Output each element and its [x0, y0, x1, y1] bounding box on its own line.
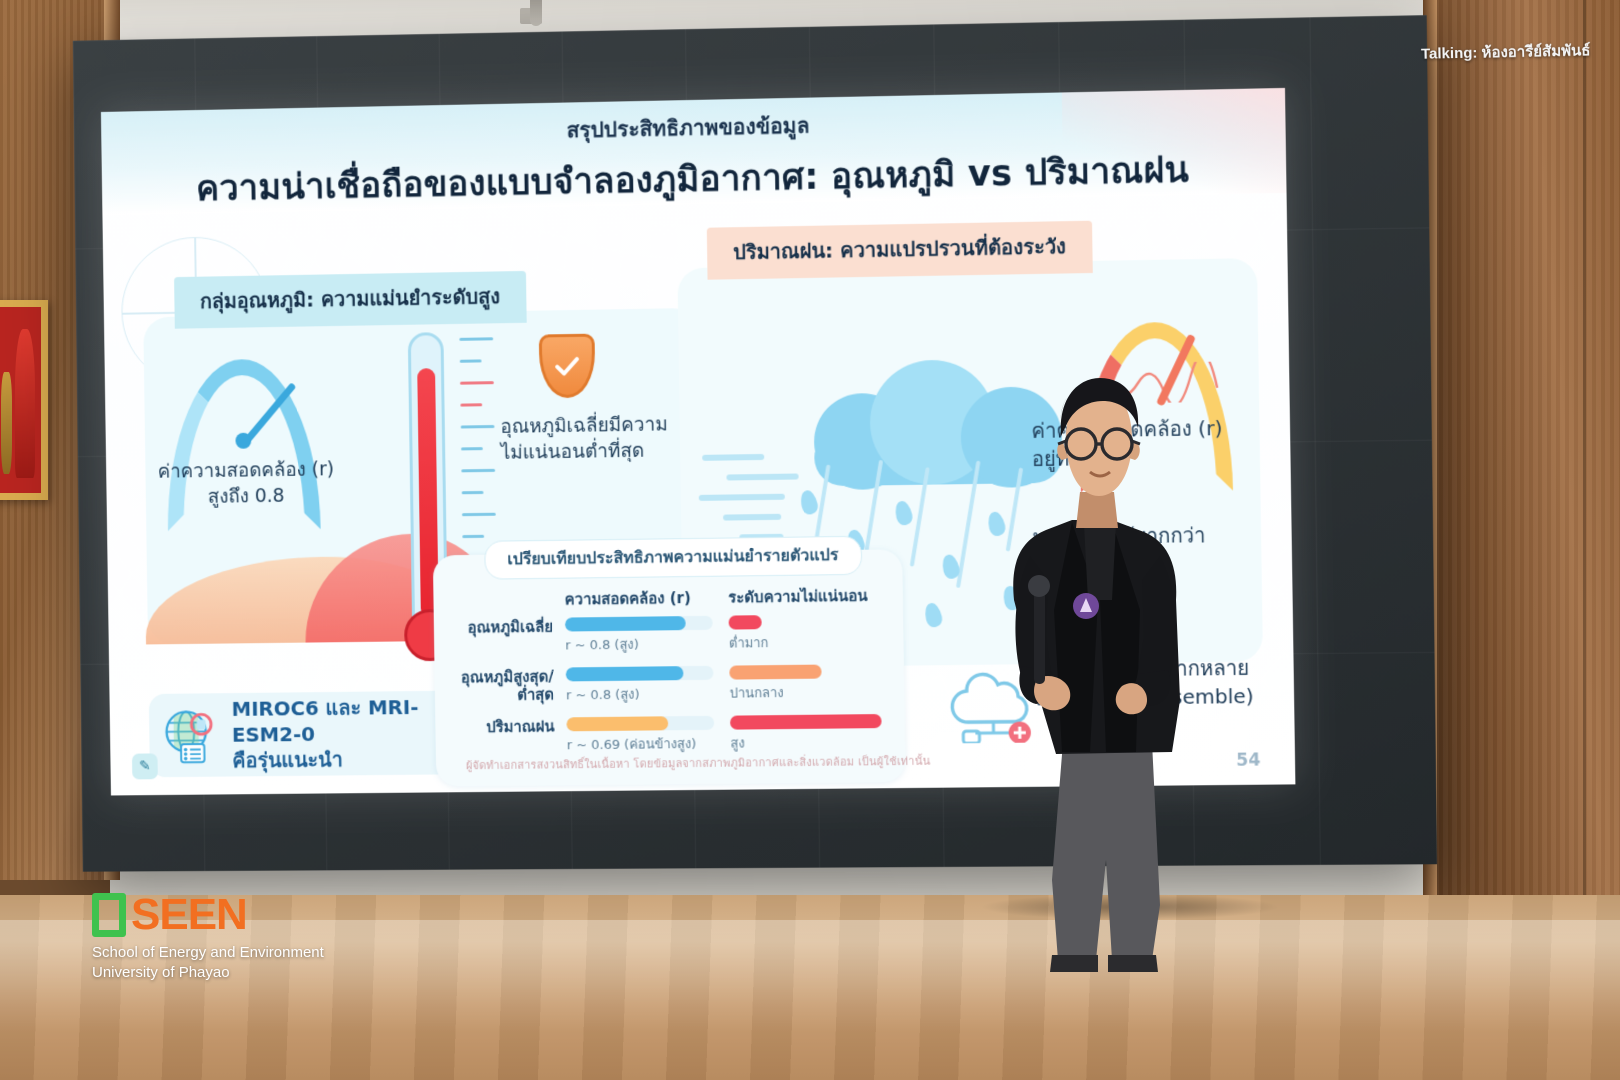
uncertainty-bar — [729, 665, 821, 680]
seen-square-icon — [92, 893, 126, 937]
uncertainty-note: สูง — [730, 731, 895, 754]
correlation-bar-track — [566, 716, 714, 732]
seen-wordmark: SEEN — [131, 895, 247, 935]
comparison-table: ความสอดคล้อง (r) ระดับความไม่แน่นอน อุณห… — [447, 583, 895, 768]
rainfall-ensemble-caption: ควรใช้ค่าเฉลี่ยจากหลาย แบบจำลอง (Ensembl… — [1035, 653, 1296, 713]
right-wood-wall — [1430, 0, 1620, 905]
rainfall-difficulty-line1: พยากรณ์ได้ยากกว่า — [1033, 519, 1296, 551]
rainfall-panel-header: ปริมาณฝน: ความแปรปรวนที่ต้องระวัง — [707, 221, 1093, 280]
correlation-bar-fill — [565, 616, 686, 631]
table-row: อุณหภูมิเฉลี่ย r ~ 0.8 (สูง) ต่ำมาก — [448, 614, 894, 657]
comparison-col-uncertainty: ระดับความไม่แน่นอน — [728, 583, 893, 609]
rainfall-correlation-line1: ค่าความสอดคล้อง (r) — [1031, 412, 1295, 445]
lecture-room-photo: Talking: ห้องอารีย์สัมพันธ์ สรุปประสิทธิ… — [0, 0, 1620, 1080]
uncertainty-note: ปานกลาง — [730, 681, 895, 704]
row-label: อุณหภูมิสูงสุด/ ต่ำสุด — [448, 667, 566, 704]
rainfall-correlation-caption: ค่าความสอดคล้อง (r) อยู่ที่ 0.69 — [1031, 412, 1295, 473]
table-row: ปริมาณฝน r ~ 0.69 (ค่อนข้างสูง) สูง — [449, 714, 895, 757]
comparison-col-blank — [447, 588, 565, 613]
seen-tagline-line1: School of Energy and Environment — [92, 943, 324, 963]
row-label-line2: ต่ำสุด — [449, 686, 555, 705]
correlation-bar-track — [566, 666, 714, 682]
row-uncertainty-cell: สูง — [730, 714, 895, 754]
uncertainty-bar — [730, 714, 882, 730]
right-wall-panel-line — [1583, 0, 1586, 905]
seen-tagline-line2: University of Phayao — [92, 963, 324, 983]
uncertainty-bar — [729, 615, 762, 629]
temperature-correlation-line1: ค่าความสอดคล้อง (r) — [128, 457, 365, 486]
temperature-correlation-line2: สูงถึง 0.8 — [128, 482, 365, 511]
correlation-note: r ~ 0.69 (ค่อนข้างสูง) — [567, 733, 731, 756]
rainfall-ensemble-line2: แบบจำลอง (Ensemble) — [1035, 681, 1295, 712]
globe-checklist-icon — [163, 706, 221, 764]
table-row: อุณหภูมิสูงสุด/ ต่ำสุด r ~ 0.8 (สูง) ปาน… — [448, 664, 894, 707]
variability-squiggle-icon — [1085, 362, 1219, 404]
temperature-correlation-caption: ค่าความสอดคล้อง (r) สูงถึง 0.8 — [128, 457, 365, 511]
comparison-card-title: เปรียบเทียบประสิทธิภาพความแม่นยำรายตัวแป… — [484, 536, 862, 580]
rainfall-difficulty-caption: พยากรณ์ได้ยากกว่า อุณหภูมิ — [1033, 519, 1296, 579]
row-correlation-cell: r ~ 0.8 (สูง) — [565, 616, 729, 656]
rainfall-ensemble-line1: ควรใช้ค่าเฉลี่ยจากหลาย — [1035, 653, 1296, 685]
rainfall-difficulty-line2: อุณหภูมิ — [1033, 548, 1295, 580]
speedometer-icon-temperature — [165, 358, 319, 446]
slide-page-number: 54 — [1236, 750, 1260, 770]
row-label: อุณหภูมิเฉลี่ย — [448, 618, 565, 637]
presenter-shadow — [980, 894, 1280, 920]
royal-portrait — [0, 300, 48, 500]
row-label-line1: อุณหภูมิสูงสุด/ — [448, 668, 554, 687]
comparison-col-correlation: ความสอดคล้อง (r) — [564, 586, 728, 612]
row-uncertainty-cell: ต่ำมาก — [729, 614, 894, 654]
rainfall-correlation-line2: อยู่ที่ 0.69 — [1032, 440, 1296, 473]
row-uncertainty-cell: ปานกลาง — [729, 664, 894, 704]
ceiling-speaker-icon — [530, 0, 542, 26]
talking-room-label: Talking: ห้องอารีย์สัมพันธ์ — [1420, 38, 1590, 66]
correlation-bar-track — [565, 616, 713, 632]
row-correlation-cell: r ~ 0.8 (สูง) — [566, 666, 730, 706]
row-correlation-cell: r ~ 0.69 (ค่อนข้างสูง) — [566, 716, 730, 756]
row-label: ปริมาณฝน — [449, 717, 566, 736]
uncertainty-note: ต่ำมาก — [729, 631, 894, 654]
comparison-table-header: ความสอดคล้อง (r) ระดับความไม่แน่นอน — [447, 583, 893, 613]
slide-canvas: สรุปประสิทธิภาพของข้อมูล ความน่าเชื่อถือ… — [101, 88, 1295, 796]
correlation-bar-fill — [566, 716, 668, 731]
correlation-bar-fill — [566, 666, 684, 681]
seen-tagline: School of Energy and Environment Univers… — [92, 943, 324, 984]
temperature-panel-header: กลุ่มอุณหภูมิ: ความแม่นยำระดับสูง — [174, 271, 526, 329]
cloud-ensemble-icon — [942, 656, 1044, 743]
speedometer-icon-rainfall — [1078, 321, 1231, 408]
correlation-note: r ~ 0.8 (สูง) — [565, 633, 729, 656]
seen-logo: SEEN School of Energy and Environment Un… — [92, 893, 324, 984]
pen-icon: ✎ — [132, 753, 158, 779]
correlation-note: r ~ 0.8 (สูง) — [566, 683, 730, 706]
